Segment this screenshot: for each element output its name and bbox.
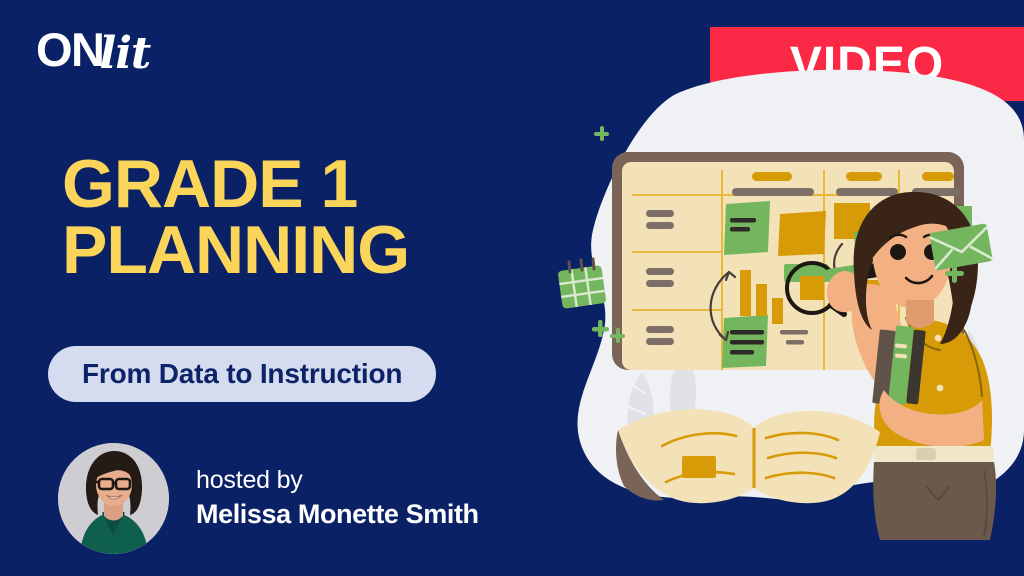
- host-label: hosted by: [196, 465, 479, 496]
- host-block: hosted by Melissa Monette Smith: [58, 443, 479, 554]
- page-title: GRADE 1 PLANNING: [62, 152, 409, 284]
- avatar-photo: [58, 443, 169, 554]
- avatar: [58, 443, 169, 554]
- calendar-icon: [558, 259, 607, 309]
- onlit-logo[interactable]: ON lit: [36, 26, 150, 74]
- logo-text-lit: lit: [100, 32, 151, 76]
- subtitle-text: From Data to Instruction: [82, 358, 402, 390]
- books-icon: [872, 325, 926, 404]
- logo-text-on: ON: [36, 26, 104, 73]
- host-text: hosted by Melissa Monette Smith: [196, 465, 479, 532]
- page-title-line-2: PLANNING: [62, 218, 409, 284]
- subtitle-pill: From Data to Instruction: [48, 346, 436, 402]
- illustration: [554, 0, 1024, 576]
- promo-banner: ON lit VIDEO GRADE 1 PLANNING From Data …: [0, 0, 1024, 576]
- host-name: Melissa Monette Smith: [196, 498, 479, 532]
- plus-icon: [594, 126, 609, 141]
- illustration-svg: [554, 0, 1024, 576]
- page-title-line-1: GRADE 1: [62, 152, 409, 218]
